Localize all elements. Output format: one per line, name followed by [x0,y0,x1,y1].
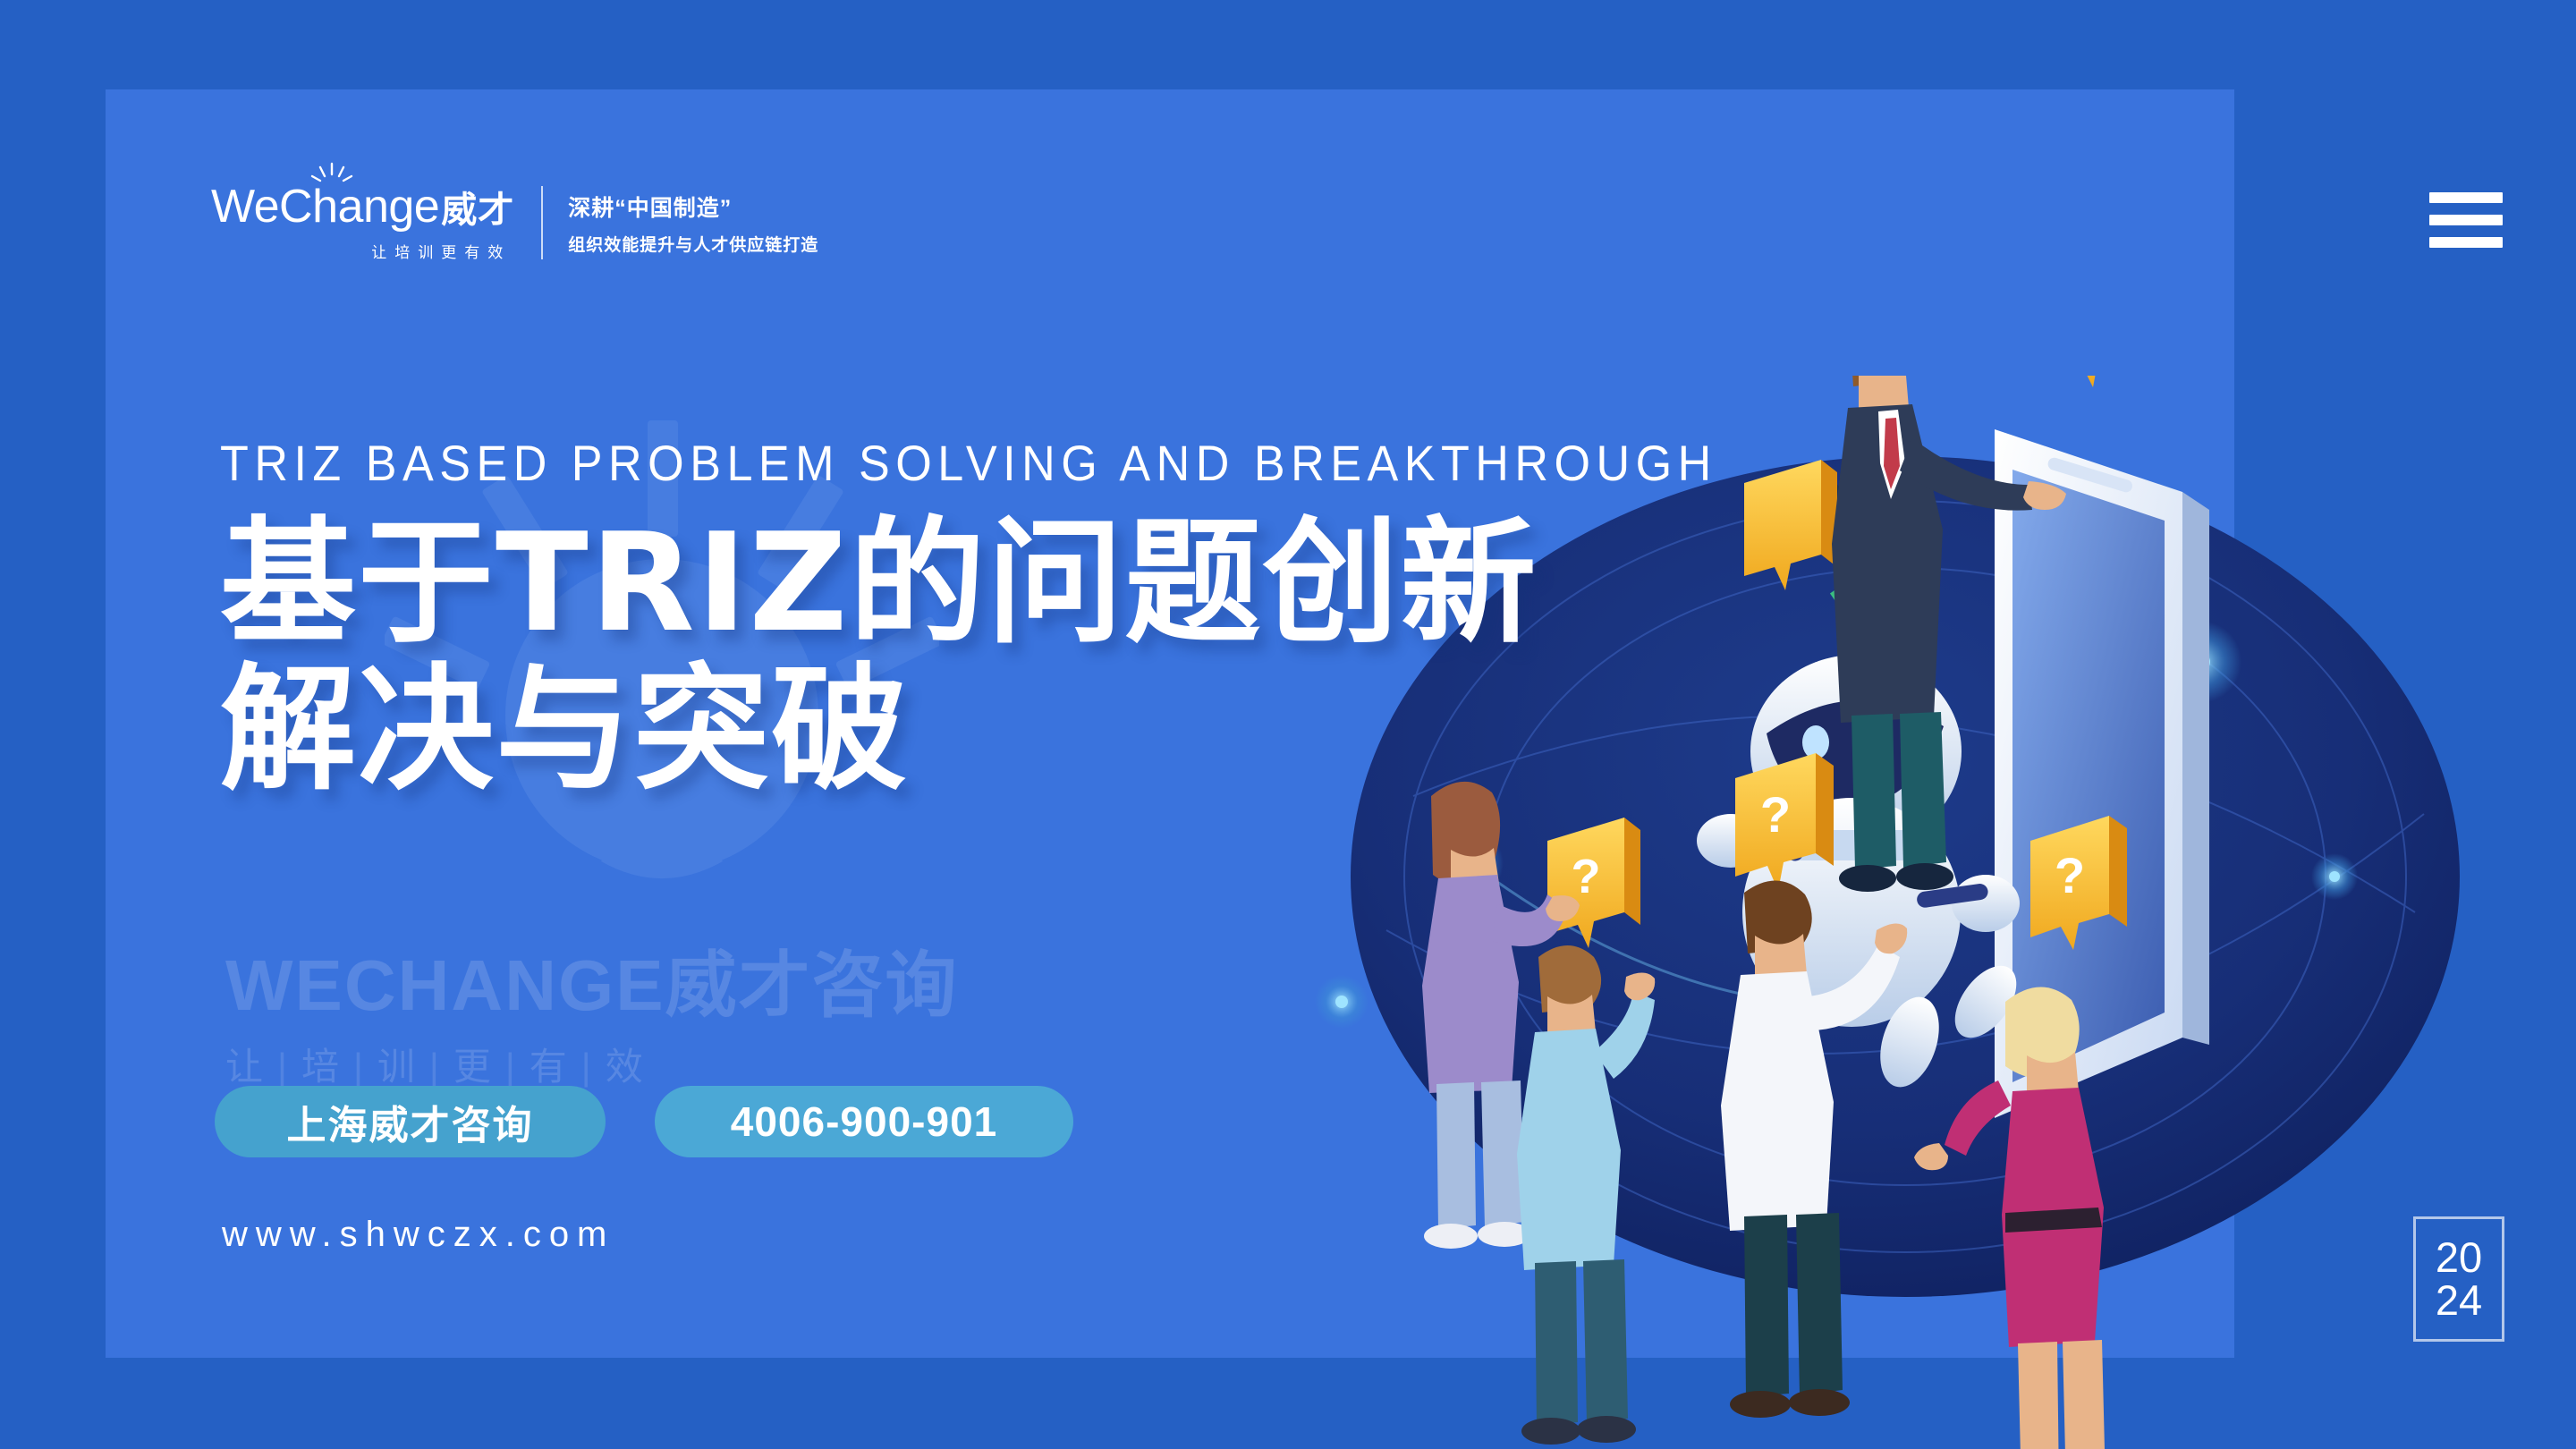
hero-title-line-1: 基于TRIZ的问题创新 [220,510,1919,657]
hero-eyebrow: TRIZ BASED PROBLEM SOLVING AND BREAKTHRO… [220,438,1801,488]
hamburger-bar-3 [2429,237,2503,248]
hero-title: 基于TRIZ的问题创新 解决与突破 [220,510,1919,803]
company-pill-button[interactable]: 上海威才咨询 [215,1086,606,1157]
logo-wordmark: WeChange威才 [211,183,514,230]
logo-left: WeChange威才 让培训更有效 [211,183,514,262]
logo-slogan: 深耕“中国制造” 组织效能提升与人才供应链打造 [568,191,818,256]
cta-row: 上海威才咨询 4006-900-901 [215,1086,1073,1157]
brand-logo[interactable]: WeChange威才 让培训更有效 深耕“中国制造” 组织效能提升与人才供应链打… [211,183,818,262]
logo-divider [541,186,543,259]
hero-headline: TRIZ BASED PROBLEM SOLVING AND BREAKTHRO… [220,438,1919,803]
sunburst-icon [309,162,354,189]
year-top: 20 [2436,1236,2482,1279]
phone-pill-button[interactable]: 4006-900-901 [655,1086,1073,1157]
hero-title-line-2: 解决与突破 [220,657,1919,803]
hamburger-bar-2 [2429,215,2503,225]
logo-tagline: 让培训更有效 [211,240,514,262]
slogan-line-2: 组织效能提升与人才供应链打造 [568,232,818,256]
slogan-line-1: 深耕“中国制造” [568,191,818,223]
year-badge: 20 24 [2413,1216,2504,1342]
logo-wordmark-cn: 威才 [441,191,514,230]
website-url[interactable]: www.shwczx.com [222,1215,614,1255]
hamburger-menu-icon[interactable] [2429,192,2503,248]
banner-canvas: ? ? ? ? [0,0,2576,1449]
hamburger-bar-1 [2429,192,2503,203]
year-bottom: 24 [2436,1279,2482,1322]
